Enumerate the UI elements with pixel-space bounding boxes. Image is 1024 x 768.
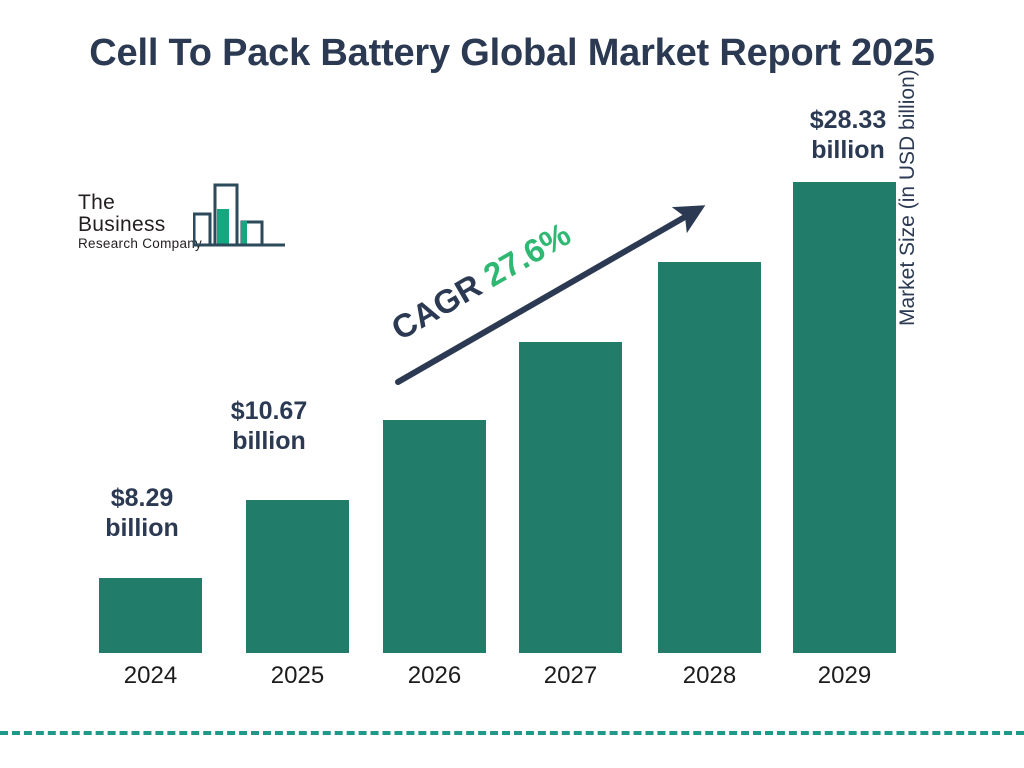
bar-2026 [383,420,486,653]
x-axis-label-2025: 2025 [246,662,349,690]
bar-2027 [519,342,622,653]
x-axis-label-2028: 2028 [658,662,761,690]
x-axis-label-2027: 2027 [519,662,622,690]
value-label-2024: $8.29 billion [79,483,205,543]
x-axis-label-2029: 2029 [793,662,896,690]
y-axis-title: Market Size (in USD billion) [896,0,920,326]
bar-2024 [99,578,202,653]
bar-2025 [246,500,349,653]
bar-2029 [793,182,896,653]
bar-2028 [658,262,761,653]
x-axis-label-2026: 2026 [383,662,486,690]
value-label-2029: $28.33 billion [782,105,914,165]
footer-divider [0,731,1024,735]
x-axis-label-2024: 2024 [99,662,202,690]
value-label-2025: $10.67 billion [203,396,335,456]
chart-canvas: Cell To Pack Battery Global Market Repor… [0,0,1024,768]
